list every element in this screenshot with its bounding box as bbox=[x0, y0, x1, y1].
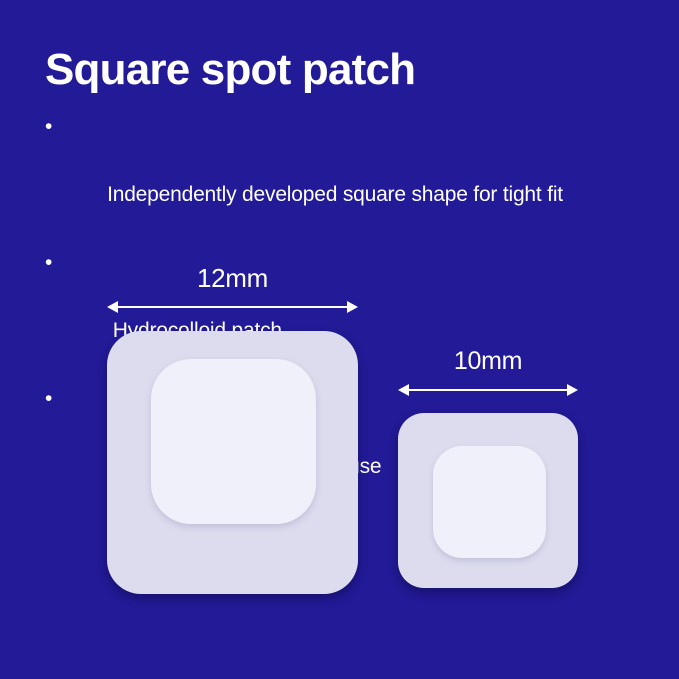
patch-outer-small bbox=[398, 413, 578, 588]
dimension-label-large: 12mm bbox=[107, 262, 358, 294]
patch-group-large: 12mm bbox=[107, 262, 358, 594]
product-infographic: Square spot patch • Independently develo… bbox=[0, 0, 679, 679]
patch-inner-large bbox=[151, 359, 316, 524]
dimension-arrow-small bbox=[398, 382, 578, 398]
patch-group-small: 10mm bbox=[398, 345, 578, 588]
dimension-arrow-large bbox=[107, 299, 358, 315]
arrow-shaft bbox=[112, 306, 353, 308]
patch-outer-large bbox=[107, 331, 358, 594]
arrow-shaft bbox=[403, 389, 573, 391]
patch-size-diagram: 12mm 10mm bbox=[0, 0, 679, 679]
arrow-head-right-icon bbox=[567, 384, 578, 396]
dimension-label-small: 10mm bbox=[398, 345, 578, 377]
arrow-head-right-icon bbox=[347, 301, 358, 313]
patch-inner-small bbox=[433, 446, 546, 558]
